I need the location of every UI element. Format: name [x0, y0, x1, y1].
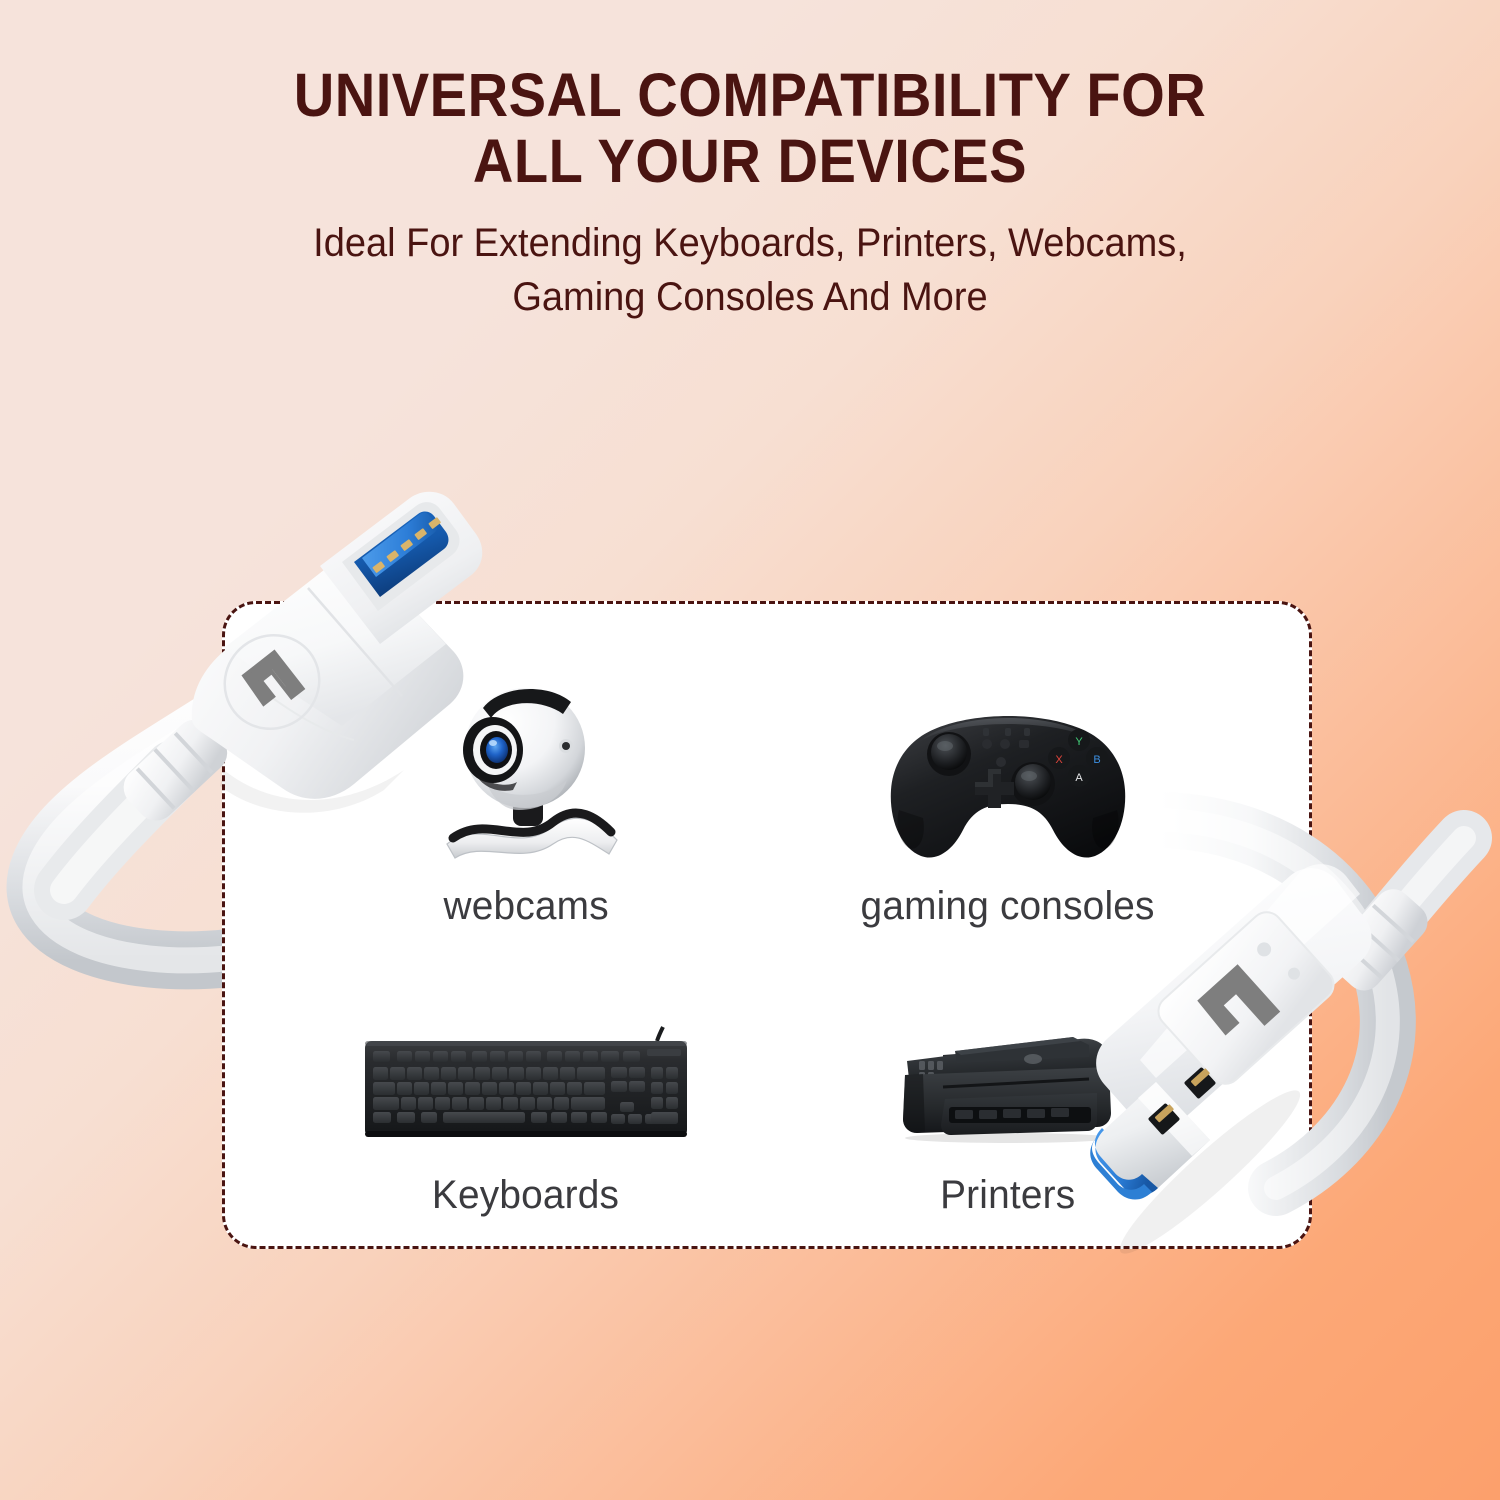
- page-subtitle: Ideal For Extending Keyboards, Printers,…: [275, 216, 1225, 324]
- svg-text:B: B: [1093, 754, 1100, 766]
- usb-female-connector: [24, 470, 494, 970]
- grid-item-label: Keyboards: [432, 1173, 619, 1218]
- grid-item-keyboards: Keyboards: [285, 929, 767, 1218]
- grid-item-label: Printers: [940, 1173, 1075, 1218]
- product-infographic: UNIVERSAL COMPATIBILITY FOR ALL YOUR DEV…: [0, 0, 1500, 1500]
- svg-text:A: A: [1075, 772, 1083, 784]
- page-title: UNIVERSAL COMPATIBILITY FOR ALL YOUR DEV…: [235, 62, 1265, 194]
- usb-male-connector: [1060, 820, 1500, 1240]
- keyboard-icon: [361, 957, 691, 1147]
- header: UNIVERSAL COMPATIBILITY FOR ALL YOUR DEV…: [0, 62, 1500, 324]
- svg-text:X: X: [1055, 754, 1063, 766]
- svg-text:Y: Y: [1075, 736, 1083, 748]
